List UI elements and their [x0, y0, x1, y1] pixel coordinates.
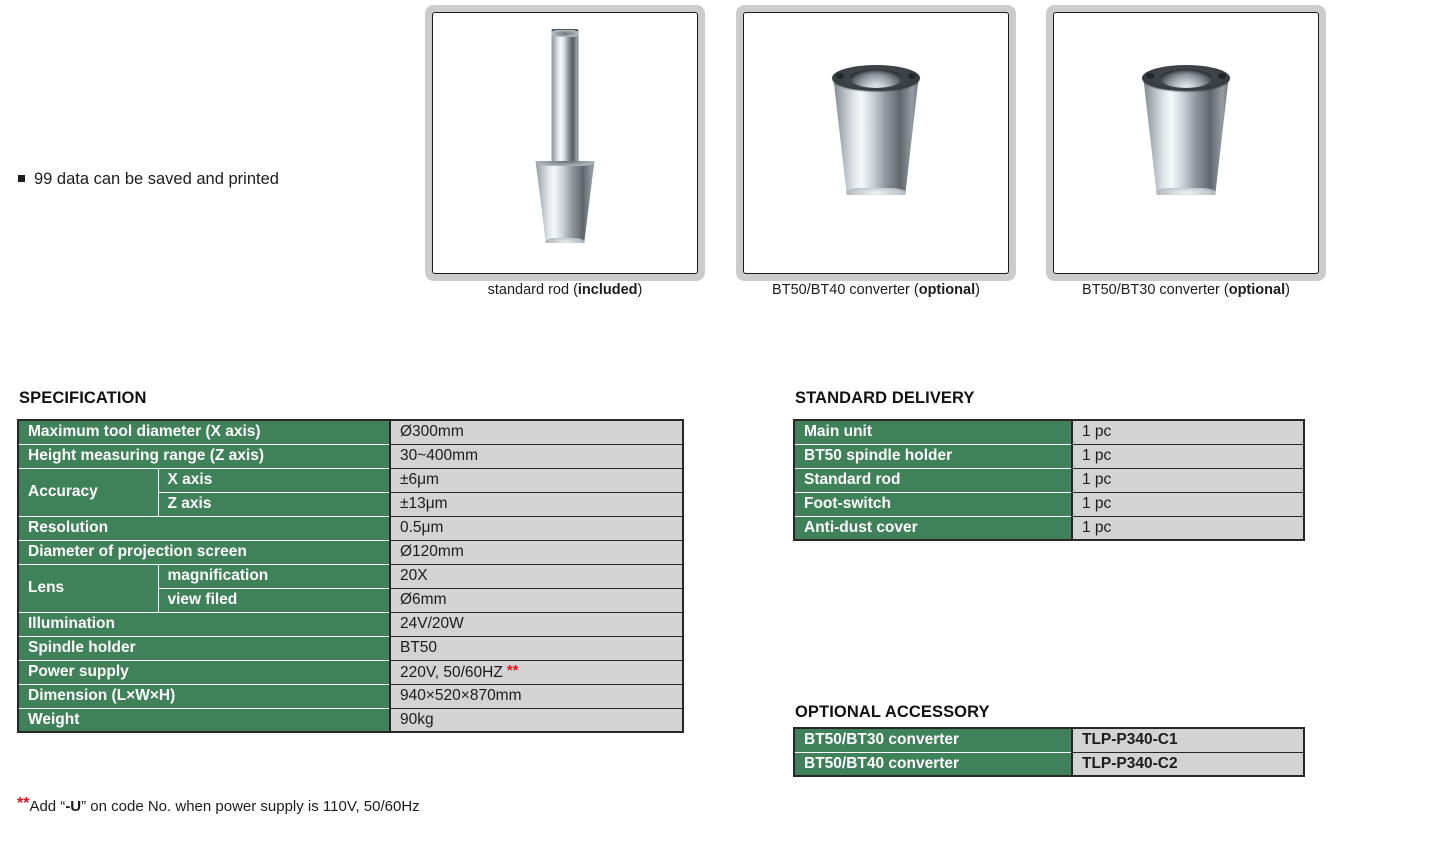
spec-group-label-lens: Lens [18, 564, 158, 612]
table-row: Foot-switch 1 pc [794, 492, 1304, 516]
table-row: Anti-dust cover 1 pc [794, 516, 1304, 540]
spec-value: 90kg [390, 708, 683, 732]
delivery-label: Anti-dust cover [794, 516, 1072, 540]
spec-label: Spindle holder [18, 636, 390, 660]
spec-value: 20X [390, 564, 683, 588]
converter-drive-slot-right [1218, 73, 1226, 79]
bt50-bt40-converter-photo [744, 13, 1008, 273]
delivery-label: Standard rod [794, 468, 1072, 492]
converter-drive-slot-right [908, 73, 916, 79]
delivery-label: Foot-switch [794, 492, 1072, 516]
caption-emphasis: optional [919, 282, 975, 298]
spec-label: Power supply [18, 660, 390, 684]
photo-caption-bt30-converter: BT50/BT30 converter (optional) [1036, 280, 1336, 300]
table-row: Resolution 0.5μm [18, 516, 683, 540]
table-row: Spindle holder BT50 [18, 636, 683, 660]
converter-drive-slot-left [836, 73, 844, 79]
accessory-code: TLP-P340-C2 [1072, 752, 1304, 776]
table-row: Main unit 1 pc [794, 420, 1304, 444]
photo-caption-standard-rod: standard rod (included) [415, 280, 715, 300]
section-title-specification: SPECIFICATION [19, 389, 147, 408]
spec-value: 30~400mm [390, 444, 683, 468]
accessory-label: BT50/BT40 converter [794, 752, 1072, 776]
spec-value: Ø6mm [390, 588, 683, 612]
converter-drive-slot-left [1146, 73, 1154, 79]
table-row: Dimension (L×W×H) 940×520×870mm [18, 684, 683, 708]
product-photo-card-standard-rod[interactable] [432, 12, 698, 274]
standard-rod-photo [433, 13, 697, 273]
spec-value: 24V/20W [390, 612, 683, 636]
converter-bore-shape [1160, 69, 1212, 88]
spec-label: Weight [18, 708, 390, 732]
converter-cone-shape [833, 75, 919, 195]
spec-value: ±6μm [390, 468, 683, 492]
asterisk-footnote-marker: ** [507, 662, 519, 679]
spec-sub-label: Z axis [158, 492, 390, 516]
delivery-label: Main unit [794, 420, 1072, 444]
spec-sub-label: view filed [158, 588, 390, 612]
product-photo-card-bt40-converter[interactable] [743, 12, 1009, 274]
table-row: BT50 spindle holder 1 pc [794, 444, 1304, 468]
table-row: Lens magnification 20X [18, 564, 683, 588]
asterisk-footnote-marker: ** [17, 795, 29, 812]
product-photo-card-bt30-converter[interactable] [1053, 12, 1319, 274]
delivery-label: BT50 spindle holder [794, 444, 1072, 468]
table-row: BT50/BT30 converter TLP-P340-C1 [794, 728, 1304, 752]
spec-value: 940×520×870mm [390, 684, 683, 708]
standard-delivery-table: Main unit 1 pc BT50 spindle holder 1 pc … [793, 419, 1305, 541]
section-title-optional-accessory: OPTIONAL ACCESSORY [795, 703, 990, 722]
rod-taper-cone-shape [533, 161, 597, 243]
table-row: Diameter of projection screen Ø120mm [18, 540, 683, 564]
spec-label: Maximum tool diameter (X axis) [18, 420, 390, 444]
section-title-standard-delivery: STANDARD DELIVERY [795, 389, 975, 408]
delivery-value: 1 pc [1072, 468, 1304, 492]
table-row: Accuracy X axis ±6μm [18, 468, 683, 492]
spec-sub-label: X axis [158, 468, 390, 492]
accessory-label: BT50/BT30 converter [794, 728, 1072, 752]
bt50-bt30-converter-photo [1054, 13, 1318, 273]
caption-emphasis: included [578, 282, 638, 298]
delivery-value: 1 pc [1072, 420, 1304, 444]
spec-label: Illumination [18, 612, 390, 636]
product-photo-row: standard rod (included) BT50/BT40 conver… [0, 0, 1445, 310]
specification-footnote: **Add “-U” on code No. when power supply… [17, 794, 420, 817]
converter-bore-shape [850, 69, 902, 88]
specification-table: Maximum tool diameter (X axis) Ø300mm He… [17, 419, 684, 733]
spec-label: Height measuring range (Z axis) [18, 444, 390, 468]
table-row: Standard rod 1 pc [794, 468, 1304, 492]
delivery-value: 1 pc [1072, 516, 1304, 540]
converter-cone-shape [1143, 75, 1229, 195]
spec-value: Ø120mm [390, 540, 683, 564]
spec-value: 0.5μm [390, 516, 683, 540]
spec-group-label-accuracy: Accuracy [18, 468, 158, 516]
spec-value-text: 220V, 50/60HZ [400, 664, 503, 681]
table-row: Power supply 220V, 50/60HZ** [18, 660, 683, 684]
spec-label: Dimension (L×W×H) [18, 684, 390, 708]
spec-value-power-supply: 220V, 50/60HZ** [390, 660, 683, 684]
spec-value: Ø300mm [390, 420, 683, 444]
table-row: Maximum tool diameter (X axis) Ø300mm [18, 420, 683, 444]
optional-accessory-table: BT50/BT30 converter TLP-P340-C1 BT50/BT4… [793, 727, 1305, 777]
photo-caption-bt40-converter: BT50/BT40 converter (optional) [726, 280, 1026, 300]
spec-label: Resolution [18, 516, 390, 540]
table-row: BT50/BT40 converter TLP-P340-C2 [794, 752, 1304, 776]
spec-value: BT50 [390, 636, 683, 660]
spec-label: Diameter of projection screen [18, 540, 390, 564]
caption-emphasis: optional [1229, 282, 1285, 298]
footnote-emphasis: -U [65, 798, 81, 815]
table-row: Weight 90kg [18, 708, 683, 732]
delivery-value: 1 pc [1072, 492, 1304, 516]
spec-sub-label: magnification [158, 564, 390, 588]
spec-value: ±13μm [390, 492, 683, 516]
accessory-code: TLP-P340-C1 [1072, 728, 1304, 752]
table-row: Illumination 24V/20W [18, 612, 683, 636]
delivery-value: 1 pc [1072, 444, 1304, 468]
table-row: Height measuring range (Z axis) 30~400mm [18, 444, 683, 468]
